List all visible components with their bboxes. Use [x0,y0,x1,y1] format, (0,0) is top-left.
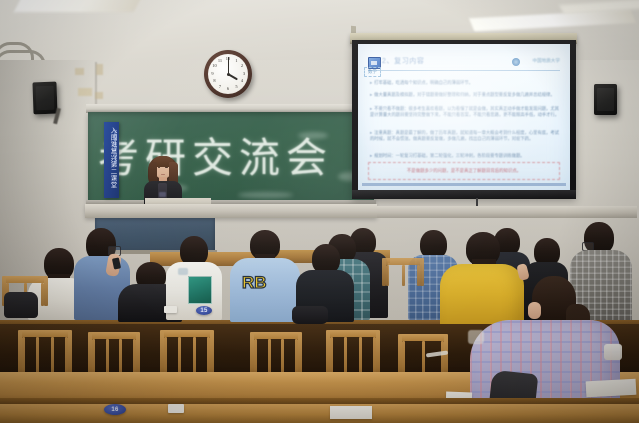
clock-number-8: 8 [211,79,218,83]
paper-sheet-right [586,379,637,398]
slide-bullet-4-text: 注重真题：真题是最了解的，做了历年真题，就知道每一章大概会考到什么程度，心里有底… [370,130,559,141]
screen-bottom-bar [352,190,576,199]
slide-bullet-5-text: 规划时间：一轮复习打基础，第二轮强化，三轮冲刺，各阶段要专题训练做题。 [374,153,524,158]
wall-clock: 12 1 2 3 4 5 6 7 8 9 10 11 [204,50,252,98]
wall-tape-mark [78,88,92,96]
university-logo-text: 中国地质大学 [532,58,560,64]
blackboard-chalk-title: 考研交流会 [98,124,368,182]
clock-number-3: 3 [241,72,248,76]
slide-bullet-3-text: 不要只看不做题：很多考生喜欢看题，以为看懂了就是会做，其实真正动手做才能发现问题… [370,106,559,117]
presenter-badge [159,192,166,197]
projector-screen-surface: 2、复习内容 中国地质大学 数学 ▸打牢基础，吃透每个知识点，明确自己的薄弱环节… [358,44,570,192]
slide-bullet-3: ▸不要只看不做题：很多考生喜欢看题，以为看懂了就是会做，其实真正动手做才能发现问… [370,106,560,117]
jacket-back-print [188,276,212,304]
chalk-dust [238,192,293,198]
clock-number-9: 9 [209,72,216,76]
desk-sticker-white-near [168,404,184,413]
slide-bullet-4: ▸注重真题：真题是最了解的，做了历年真题，就知道每一章大概会考到什么程度，心里有… [370,130,560,141]
paper-on-front-desk [330,406,372,419]
university-logo-icon [512,58,520,66]
ceiling-light-left [14,0,143,12]
clock-number-7: 7 [217,85,224,89]
student-rb-shirt: RB [230,230,300,322]
chair [160,330,214,374]
slide-bullet-5: ▸规划时间：一轮复习打基础，第二轮强化，三轮冲刺，各阶段要专题训练做题。 [370,153,560,159]
slide-bullet-1-text: 打牢基础，吃透每个知识点，明确自己的薄弱环节。 [374,80,473,85]
clock-number-2: 2 [239,64,246,68]
classroom-photo: 12 1 2 3 4 5 6 7 8 9 10 11 考研交流会 入围谁复兴第二… [0,0,639,423]
slide-highlight-note: 不是做题多少的问题，是不是真正了解题目背后的知识点。 [368,162,560,180]
wall-tape-mark [95,92,103,99]
slide-bullet-1: ▸打牢基础，吃透每个知识点，明确自己的薄弱环节。 [370,80,560,86]
front-wall-ledge [85,204,377,218]
bag-on-chair-left [4,292,38,318]
desk-front-surface [0,404,639,423]
wall-speaker-right-icon [594,84,617,115]
presenter-mouth [161,174,165,175]
desk-sticker-white [164,306,177,313]
slide-divider [368,70,560,71]
wall-banner: 入围谁复兴第二课堂 学院学生会学习部主办 [104,122,119,198]
water-bottle [468,330,484,344]
clock-number-4: 4 [239,79,246,83]
cup-on-desk [604,344,622,360]
wall-tape-mark [75,68,84,75]
wall-tape-mark [96,64,103,75]
wall-speaker-left-icon [32,82,57,115]
bag-on-chair-center [292,306,328,324]
rb-print-text: RB [242,274,267,291]
clock-center-pin [227,73,230,76]
chair [88,332,140,374]
chair [18,330,72,374]
jacket-shoulder-print [178,268,188,275]
clock-number-5: 5 [233,85,240,89]
slide-tag: 数学 [364,67,381,77]
desk-sticker-blue-15: 15 [196,306,212,315]
desk-sticker-blue-16: 16 [104,404,126,415]
student-ear [528,302,541,319]
presentation-slide: 2、复习内容 中国地质大学 数学 ▸打牢基础，吃透每个知识点，明确自己的薄弱环节… [362,50,566,186]
chair [250,332,302,374]
clock-number-1: 1 [233,59,240,63]
slide-header: 2、复习内容 中国地质大学 [368,56,560,72]
slide-bullet-2-text: 做大量真题及模拟题，对于错题要做好整理和归纳，对于重点题型要反复多做几遍并总结规… [374,92,554,97]
chair [326,330,380,374]
clock-number-10: 10 [211,64,218,68]
chair [382,258,424,286]
clock-number-6: 6 [225,87,232,91]
slide-bullet-2: ▸做大量真题及模拟题，对于错题要做好整理和归纳，对于重点题型要反复多做几遍并总结… [370,92,560,98]
clock-number-11: 11 [217,59,224,63]
slide-footer-bar [362,183,566,186]
front-wall-ledge-right [377,206,637,218]
wall-banner-subtext: 学院学生会学习部主办 [113,130,117,164]
slide-title: 2、复习内容 [382,56,425,66]
